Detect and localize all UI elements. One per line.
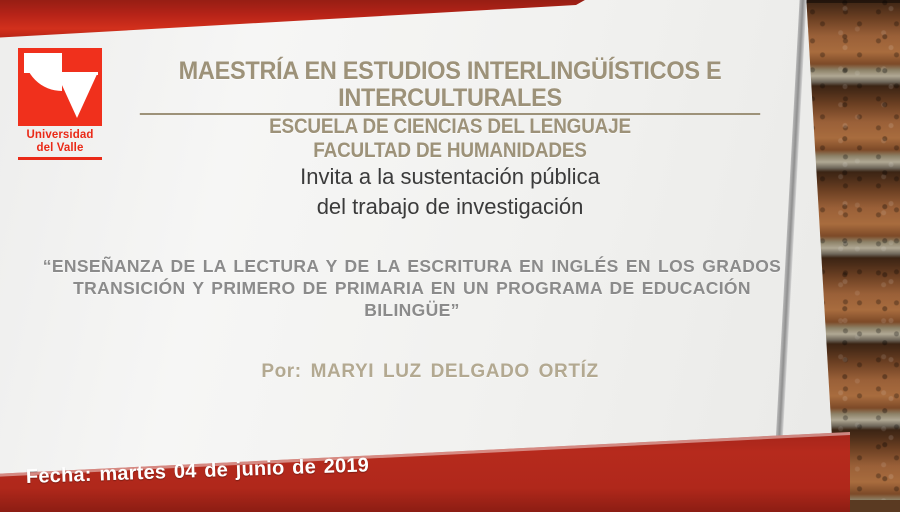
univalle-monogram-icon <box>18 48 102 126</box>
univalle-v-triangle <box>56 72 98 118</box>
univalle-u-shape-top <box>24 53 62 73</box>
invitation-line-2: del trabajo de investigación <box>120 192 780 222</box>
author-line: Por: MARYI LUZ DELGADO ORTÍZ <box>120 361 740 383</box>
universidad-del-valle-logo: Universidad del Valle <box>18 48 104 163</box>
heading-line-program: MAESTRÍA EN ESTUDIOS INTERLINGÜÍSTICOS E… <box>120 58 780 115</box>
logo-underline-rule <box>18 157 102 160</box>
logo-wordmark-line2: del Valle <box>37 142 84 154</box>
thesis-title: “ENSEÑANZA DE LA LECTURA Y DE LA ESCRITU… <box>42 255 782 321</box>
program-heading: MAESTRÍA EN ESTUDIOS INTERLINGÜÍSTICOS E… <box>120 58 780 163</box>
invitation-text: Invita a la sustentación pública del tra… <box>120 162 780 222</box>
logo-wordmark: Universidad del Valle <box>18 129 102 154</box>
logo-wordmark-line1: Universidad <box>27 129 94 141</box>
invitation-line-1: Invita a la sustentación pública <box>120 162 780 192</box>
heading-school-text: ESCUELA DE CIENCIAS DEL LENGUAJE <box>153 115 747 139</box>
heading-program-text: MAESTRÍA EN ESTUDIOS INTERLINGÜÍSTICOS E… <box>140 58 760 115</box>
heading-faculty-text: FACULTAD DE HUMANIDADES <box>153 139 747 163</box>
